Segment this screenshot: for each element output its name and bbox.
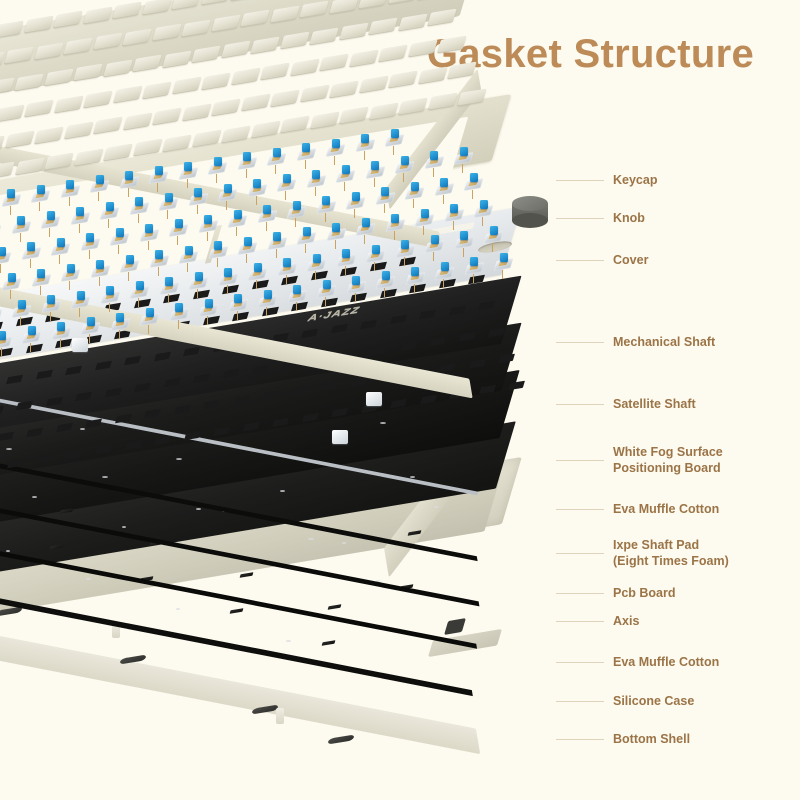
- mechanical-switch: [377, 274, 394, 291]
- mechanical-switch: [160, 196, 177, 213]
- switch-stem: [214, 241, 222, 250]
- mechanical-switch: [43, 298, 60, 315]
- switch-pin: [345, 266, 346, 275]
- mechanical-switch: [406, 185, 423, 202]
- leader-line: [556, 218, 604, 219]
- switch-stem: [195, 272, 203, 281]
- mechanical-switch: [150, 169, 167, 186]
- keycap: [142, 81, 171, 98]
- mechanical-switch: [151, 253, 168, 270]
- keycap: [319, 54, 348, 71]
- switch-pin: [217, 258, 218, 267]
- switch-stem: [460, 147, 468, 156]
- keycap: [34, 126, 63, 143]
- switch-stem: [441, 262, 449, 271]
- switch-stem: [116, 313, 124, 322]
- leader-line: [556, 739, 604, 740]
- switch-stem: [500, 253, 508, 262]
- switch-stem: [303, 227, 311, 236]
- brand-logo: A·JAZZ: [307, 304, 361, 323]
- keycap: [152, 108, 181, 125]
- plate-cutout: [0, 432, 13, 442]
- mechanical-switch: [347, 195, 364, 212]
- plate-cutout: [26, 427, 43, 437]
- plate-cutout: [95, 445, 112, 455]
- switch-pin: [207, 316, 208, 325]
- keycap: [290, 58, 319, 75]
- keycap: [457, 88, 486, 105]
- mechanical-switch: [141, 311, 158, 328]
- switch-pin: [79, 224, 80, 233]
- switch-stem: [106, 286, 114, 295]
- plate-cutout: [125, 440, 142, 450]
- plate-cutout: [272, 417, 289, 427]
- switch-pin: [246, 254, 247, 263]
- callout-silicone-case: Silicone Case: [556, 694, 694, 710]
- switch-pin: [334, 156, 335, 165]
- mechanical-switch: [62, 267, 79, 284]
- callout-bottom-shell: Bottom Shell: [556, 732, 690, 748]
- switch-pin: [207, 232, 208, 241]
- switch-pin: [197, 289, 198, 298]
- switch-stem: [480, 200, 488, 209]
- switch-pin: [305, 244, 306, 253]
- mechanical-switch: [229, 213, 246, 230]
- mechanical-switch: [219, 187, 236, 204]
- switch-stem: [263, 205, 271, 214]
- switch-stem: [352, 192, 360, 201]
- switch-pin: [227, 285, 228, 294]
- switch-stem: [106, 202, 114, 211]
- switch-stem: [37, 269, 45, 278]
- callout-label: Keycap: [613, 173, 657, 189]
- mechanical-switch: [53, 325, 70, 342]
- mechanical-switch: [52, 241, 69, 258]
- leader-line: [556, 593, 604, 594]
- switch-pin: [49, 228, 50, 237]
- switch-pin: [285, 191, 286, 200]
- keycap: [388, 71, 417, 88]
- switch-stem: [401, 240, 409, 249]
- switch-stem: [411, 182, 419, 191]
- mechanical-switch: [23, 329, 40, 346]
- switch-pin: [374, 262, 375, 271]
- switch-pin: [1, 348, 2, 357]
- mechanical-switch: [33, 272, 50, 289]
- leader-line: [556, 180, 604, 181]
- switch-stem: [381, 187, 389, 196]
- keycap: [339, 107, 368, 124]
- switch-stem: [7, 189, 15, 198]
- switch-stem: [165, 193, 173, 202]
- keycap: [408, 40, 437, 57]
- switch-pin: [335, 240, 336, 249]
- mechanical-switch: [475, 203, 492, 220]
- switch-stem: [430, 151, 438, 160]
- keycap: [447, 62, 476, 79]
- switch-stem: [17, 216, 25, 225]
- callout-white-fog-surface-positioning-board: White Fog Surface Positioning Board: [556, 445, 723, 476]
- switch-stem: [371, 161, 379, 170]
- keycap: [182, 103, 211, 120]
- switch-stem: [243, 152, 251, 161]
- switch-pin: [462, 164, 463, 173]
- switch-pin: [148, 241, 149, 250]
- switch-stem: [283, 258, 291, 267]
- exploded-view-stage: Gasket Structure: [0, 0, 800, 800]
- mechanical-switch: [348, 279, 365, 296]
- callout-axis: Axis: [556, 614, 639, 630]
- callout-label: Cover: [613, 253, 648, 269]
- switch-stem: [67, 264, 75, 273]
- mechanical-switch: [377, 190, 394, 207]
- keycap: [437, 35, 466, 52]
- switch-stem: [322, 196, 330, 205]
- mechanical-switch: [180, 249, 197, 266]
- callout-label: Mechanical Shaft: [613, 335, 715, 351]
- switch-stem: [332, 139, 340, 148]
- leader-line: [556, 404, 604, 405]
- keycap: [5, 131, 34, 148]
- leader-line: [556, 701, 604, 702]
- switch-stem: [96, 175, 104, 184]
- switch-pin: [178, 320, 179, 329]
- keycap: [133, 139, 162, 156]
- plate-cutout: [56, 423, 73, 433]
- switch-pin: [99, 277, 100, 286]
- leader-line: [556, 509, 604, 510]
- keycap: [221, 125, 250, 142]
- keycap: [83, 90, 112, 107]
- switch-stem: [146, 308, 154, 317]
- switch-stem: [194, 188, 202, 197]
- switch-stem: [28, 326, 36, 335]
- switch-pin: [364, 235, 365, 244]
- switch-pin: [187, 263, 188, 272]
- mechanical-switch: [426, 154, 443, 171]
- switch-pin: [266, 307, 267, 316]
- switch-pin: [423, 226, 424, 235]
- switch-pin: [89, 334, 90, 343]
- mechanical-switch: [210, 244, 227, 261]
- callout-eva-muffle-cotton-top: Eva Muffle Cotton: [556, 502, 719, 518]
- plate-cutout: [36, 454, 53, 464]
- switch-pin: [187, 179, 188, 188]
- keycap: [300, 85, 329, 102]
- switch-pin: [433, 168, 434, 177]
- switch-stem: [165, 277, 173, 286]
- mechanical-switch: [91, 178, 108, 195]
- switch-stem: [224, 268, 232, 277]
- callout-label: Bottom Shell: [613, 732, 690, 748]
- switch-stem: [421, 209, 429, 218]
- callout-eva-muffle-cotton-bottom: Eva Muffle Cotton: [556, 655, 719, 671]
- mechanical-switch: [92, 263, 109, 280]
- mechanical-switch: [112, 316, 129, 333]
- switch-stem: [8, 273, 16, 282]
- switch-stem: [86, 233, 94, 242]
- mechanical-switch: [230, 297, 247, 314]
- mechanical-switch: [446, 207, 463, 224]
- mechanical-switch: [268, 151, 285, 168]
- keycap: [0, 104, 24, 121]
- switch-pin: [404, 257, 405, 266]
- switch-pin: [39, 202, 40, 211]
- keycap: [54, 95, 83, 112]
- switch-stem: [47, 295, 55, 304]
- switch-stem: [66, 180, 74, 189]
- mechanical-switch: [495, 256, 512, 273]
- switch-stem: [302, 143, 310, 152]
- mechanical-switch: [161, 280, 178, 297]
- plate-cutout: [243, 422, 260, 432]
- callout-mechanical-shaft: Mechanical Shaft: [556, 335, 715, 351]
- keycap: [251, 120, 280, 137]
- switch-pin: [482, 217, 483, 226]
- switch-pin: [216, 174, 217, 183]
- switch-stem: [185, 246, 193, 255]
- switch-pin: [148, 325, 149, 334]
- switch-stem: [224, 184, 232, 193]
- switch-stem: [312, 170, 320, 179]
- keycap: [310, 111, 339, 128]
- switch-pin: [276, 249, 277, 258]
- keycap: [280, 116, 309, 133]
- keycap: [369, 102, 398, 119]
- switch-pin: [167, 210, 168, 219]
- callout-label: Silicone Case: [613, 694, 694, 710]
- mechanical-switch: [485, 229, 502, 246]
- switch-stem: [342, 249, 350, 258]
- mechanical-switch: [338, 252, 355, 269]
- switch-pin: [10, 206, 11, 215]
- keycap: [172, 77, 201, 94]
- switch-pin: [177, 236, 178, 245]
- mechanical-switch: [337, 168, 354, 185]
- keycap: [123, 112, 152, 129]
- switch-pin: [197, 205, 198, 214]
- mechanical-switch: [456, 234, 473, 251]
- switch-stem: [96, 260, 104, 269]
- switch-pin: [275, 165, 276, 174]
- mechanical-switch: [407, 270, 424, 287]
- switch-pin: [354, 209, 355, 218]
- mechanical-switch: [171, 306, 188, 323]
- keycap: [192, 130, 221, 147]
- mechanical-switch: [259, 208, 276, 225]
- switch-pin: [413, 199, 414, 208]
- mechanical-switch: [465, 176, 482, 193]
- switch-pin: [256, 196, 257, 205]
- switch-pin: [118, 245, 119, 254]
- switch-pin: [355, 293, 356, 302]
- switch-stem: [27, 242, 35, 251]
- mechanical-switch: [131, 200, 148, 217]
- switch-stem: [293, 201, 301, 210]
- switch-stem: [57, 322, 65, 331]
- mechanical-switch: [288, 204, 305, 221]
- mechanical-switch: [308, 173, 325, 190]
- switch-stem: [273, 148, 281, 157]
- mechanical-switch: [357, 137, 374, 154]
- keycap: [113, 86, 142, 103]
- keycap: [378, 44, 407, 61]
- switch-pin: [10, 290, 11, 299]
- switch-stem: [470, 173, 478, 182]
- switch-pin: [128, 188, 129, 197]
- switch-stem: [87, 317, 95, 326]
- switch-pin: [60, 339, 61, 348]
- switch-pin: [20, 233, 21, 242]
- switch-pin: [473, 274, 474, 283]
- switch-pin: [30, 343, 31, 352]
- leader-line: [556, 260, 604, 261]
- callout-keycap: Keycap: [556, 173, 657, 189]
- mechanical-switch: [121, 258, 138, 275]
- switch-stem: [116, 228, 124, 237]
- callout-cover: Cover: [556, 253, 648, 269]
- keycap: [349, 49, 378, 66]
- mechanical-switch: [220, 271, 237, 288]
- switch-stem: [293, 285, 301, 294]
- switch-stem: [205, 299, 213, 308]
- switch-pin: [138, 298, 139, 307]
- switch-stem: [76, 207, 84, 216]
- switch-stem: [411, 267, 419, 276]
- mechanical-switch: [3, 276, 20, 293]
- switch-stem: [470, 257, 478, 266]
- satellite-shaft: [332, 430, 348, 444]
- switch-stem: [391, 214, 399, 223]
- keycap: [418, 66, 447, 83]
- switch-pin: [403, 173, 404, 182]
- switch-pin: [50, 312, 51, 321]
- rubber-foot: [327, 734, 354, 744]
- switch-pin: [296, 302, 297, 311]
- mechanical-switch: [396, 159, 413, 176]
- mechanical-switch: [357, 221, 374, 238]
- switch-pin: [443, 195, 444, 204]
- keycap: [64, 121, 93, 138]
- mechanical-switch: [327, 142, 344, 159]
- plate-cutout: [7, 459, 24, 469]
- mechanical-switch: [328, 226, 345, 243]
- switch-pin: [79, 308, 80, 317]
- mechanical-switch: [13, 219, 30, 236]
- switch-pin: [109, 303, 110, 312]
- switch-stem: [214, 157, 222, 166]
- switch-stem: [323, 280, 331, 289]
- mechanical-switch: [397, 243, 414, 260]
- mechanical-switch: [289, 288, 306, 305]
- switch-stem: [126, 255, 134, 264]
- mechanical-switch: [436, 265, 453, 282]
- mechanical-switch: [102, 289, 119, 306]
- mechanical-switch: [82, 236, 99, 253]
- switch-pin: [226, 201, 227, 210]
- switch-pin: [502, 270, 503, 279]
- switch-pin: [69, 281, 70, 290]
- switch-pin: [158, 267, 159, 276]
- mechanical-switch: [0, 334, 11, 351]
- callout-label: Eva Muffle Cotton: [613, 655, 719, 671]
- keycap: [428, 93, 457, 110]
- mechanical-switch: [367, 164, 384, 181]
- mechanical-switch: [72, 210, 89, 227]
- mechanical-switch: [131, 284, 148, 301]
- switch-pin: [344, 182, 345, 191]
- switch-pin: [393, 146, 394, 155]
- switch-stem: [382, 271, 390, 280]
- switch-stem: [175, 303, 183, 312]
- mechanical-switch: [23, 245, 40, 262]
- keycap: [211, 98, 240, 115]
- switch-pin: [30, 259, 31, 268]
- switch-stem: [253, 179, 261, 188]
- switch-pin: [236, 227, 237, 236]
- switch-pin: [414, 284, 415, 293]
- switch-pin: [374, 178, 375, 187]
- mechanical-switch: [436, 181, 453, 198]
- mechanical-switch: [367, 248, 384, 265]
- switch-stem: [401, 156, 409, 165]
- mechanical-switch: [190, 191, 207, 208]
- keycap: [270, 89, 299, 106]
- keycap: [260, 63, 289, 80]
- switch-stem: [234, 294, 242, 303]
- switch-stem: [254, 263, 262, 272]
- switch-stem: [342, 165, 350, 174]
- mechanical-switch: [416, 212, 433, 229]
- mechanical-switch: [141, 227, 158, 244]
- switch-pin: [256, 280, 257, 289]
- switch-pin: [305, 160, 306, 169]
- keycap: [162, 134, 191, 151]
- callout-label: Satellite Shaft: [613, 397, 696, 413]
- switch-stem: [0, 331, 6, 340]
- mechanical-switch: [32, 188, 49, 205]
- switch-stem: [283, 174, 291, 183]
- switch-stem: [0, 247, 6, 256]
- switch-pin: [237, 311, 238, 320]
- switch-pin: [315, 187, 316, 196]
- switch-pin: [246, 169, 247, 178]
- mechanical-switch: [259, 293, 276, 310]
- leader-line: [556, 621, 604, 622]
- mechanical-switch: [269, 235, 286, 252]
- callout-knob: Knob: [556, 211, 645, 227]
- leader-line: [556, 460, 604, 461]
- switch-stem: [77, 291, 85, 300]
- mechanical-switch: [249, 182, 266, 199]
- switch-stem: [264, 290, 272, 299]
- switch-stem: [145, 224, 153, 233]
- switch-stem: [362, 218, 370, 227]
- switch-stem: [352, 276, 360, 285]
- mechanical-switch: [466, 260, 483, 277]
- mechanical-switch: [318, 283, 335, 300]
- switch-pin: [69, 197, 70, 206]
- mechanical-switch: [279, 261, 296, 278]
- mechanical-switch: [13, 303, 30, 320]
- mechanical-switch: [298, 146, 315, 163]
- switch-pin: [384, 288, 385, 297]
- plate-cutout: [66, 449, 83, 459]
- switch-stem: [37, 185, 45, 194]
- switch-pin: [168, 294, 169, 303]
- keycap: [201, 72, 230, 89]
- mechanical-switch: [62, 183, 79, 200]
